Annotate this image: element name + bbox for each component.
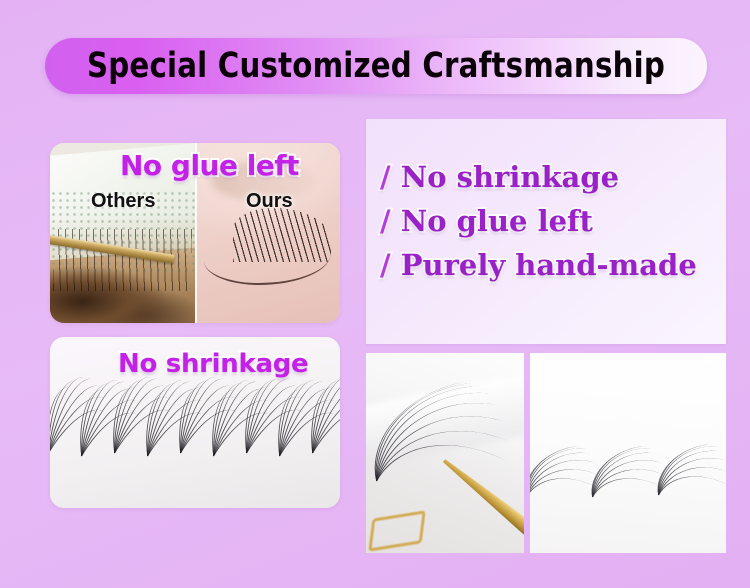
no-shrinkage-badge: No shrinkage — [118, 349, 308, 379]
gold-logo-mark — [368, 510, 425, 551]
lash-fan-with-gold-tweezers-photo — [366, 353, 524, 553]
feature-line-label: No glue left — [401, 204, 593, 238]
feature-line-label: No shrinkage — [401, 160, 619, 194]
feature-line: / No shrinkage — [380, 155, 720, 199]
lash-fan — [658, 437, 722, 495]
feature-list: / No shrinkage / No glue left / Purely h… — [380, 155, 720, 287]
fan-row-card: No shrinkage — [50, 337, 340, 508]
feature-panel: / No shrinkage / No glue left / Purely h… — [366, 119, 726, 344]
others-label: Others — [91, 190, 155, 213]
feature-line: / Purely hand-made — [380, 243, 720, 287]
feature-line-label: Purely hand-made — [401, 248, 697, 282]
lash-fan — [592, 439, 656, 497]
lash-fan — [530, 439, 590, 497]
poster-canvas: Special Customized Craftsmanship Others … — [0, 0, 750, 588]
ours-eyelid-line — [204, 229, 332, 285]
page-title: Special Customized Craftsmanship — [68, 38, 684, 94]
three-lash-fans-photo — [530, 353, 726, 553]
feature-line: / No glue left — [380, 199, 720, 243]
feature-slash-icon: / — [380, 160, 391, 194]
no-glue-left-badge: No glue left — [120, 149, 299, 182]
header-banner: Special Customized Craftsmanship — [45, 38, 707, 94]
ours-label: Ours — [246, 190, 293, 213]
lash-fan — [308, 367, 340, 453]
single-lash-fan — [376, 371, 494, 481]
feature-slash-icon: / — [380, 204, 391, 238]
comparison-card: Others Ours No glue left — [50, 143, 340, 323]
feature-slash-icon: / — [380, 248, 391, 282]
